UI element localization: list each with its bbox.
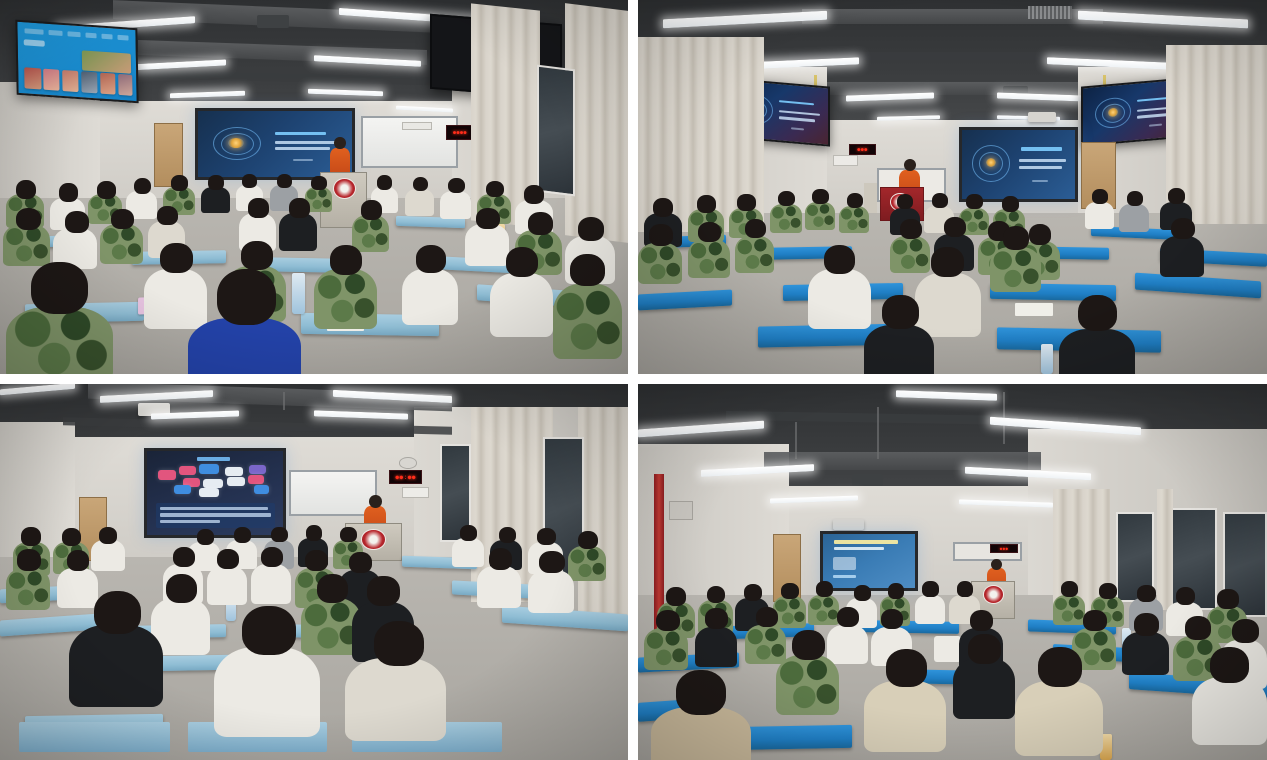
podium-emblem bbox=[361, 529, 386, 550]
wall-panel bbox=[402, 487, 429, 497]
classroom-scene-4: ●●● bbox=[638, 384, 1267, 760]
classroom-scene-1: ●●●● bbox=[0, 0, 628, 374]
classroom-scene-3: ●●:●● bbox=[0, 384, 628, 760]
tv-section-title bbox=[23, 40, 44, 48]
podium-emblem bbox=[333, 178, 356, 199]
photo-top-left[interactable]: ●●●● bbox=[0, 0, 628, 374]
tv-poster[interactable] bbox=[81, 71, 98, 93]
whiteboard bbox=[289, 470, 377, 515]
presenter-head bbox=[369, 495, 382, 508]
podium-emblem bbox=[983, 585, 1004, 604]
wall-vent bbox=[402, 122, 432, 130]
led-clock: ●●:●● bbox=[389, 470, 422, 483]
security-camera bbox=[399, 457, 417, 469]
tv-nav-item[interactable] bbox=[67, 32, 80, 38]
ceiling-speaker bbox=[257, 15, 288, 28]
backpack bbox=[934, 636, 962, 662]
tv-nav-item[interactable] bbox=[24, 29, 43, 35]
ceiling-pipe bbox=[283, 392, 285, 411]
water-bottle bbox=[1041, 344, 1054, 374]
ceiling-pipe bbox=[795, 422, 797, 460]
tv-nav-item[interactable] bbox=[48, 31, 62, 37]
tv-nav-item[interactable] bbox=[101, 34, 112, 40]
photo-bottom-right[interactable]: ●●● bbox=[638, 384, 1267, 760]
tv-search-icon[interactable] bbox=[117, 35, 129, 41]
projector bbox=[833, 519, 864, 530]
photo-top-right[interactable]: ●●● bbox=[638, 0, 1267, 374]
led-sign: ●●● bbox=[849, 144, 877, 155]
projector bbox=[1028, 112, 1056, 122]
presenter-head bbox=[334, 137, 346, 150]
notebook bbox=[1015, 303, 1053, 316]
projection-screen[interactable] bbox=[820, 531, 917, 591]
ceiling-smart-tv[interactable] bbox=[15, 20, 139, 103]
tv-poster[interactable] bbox=[62, 70, 79, 92]
photo-collage: ●●●● bbox=[0, 0, 1267, 760]
chair-back bbox=[19, 722, 170, 752]
tv-poster[interactable] bbox=[117, 74, 132, 96]
ceiling-pipe bbox=[877, 407, 879, 460]
led-sign: ●●●● bbox=[446, 125, 474, 140]
tv-nav-item[interactable] bbox=[85, 33, 97, 39]
classroom-scene-2: ●●● bbox=[638, 0, 1267, 374]
led-sign: ●●● bbox=[990, 544, 1018, 553]
presenter-body bbox=[330, 148, 350, 174]
window bbox=[537, 65, 575, 197]
wall-panel bbox=[833, 155, 858, 166]
tv-poster[interactable] bbox=[100, 72, 116, 94]
ceiling-speaker bbox=[852, 474, 883, 485]
photo-bottom-left[interactable]: ●●:●● bbox=[0, 384, 628, 760]
wall-box bbox=[669, 501, 692, 520]
tv-poster[interactable] bbox=[43, 68, 60, 90]
water-bottle bbox=[292, 273, 305, 314]
tv-poster[interactable] bbox=[24, 67, 41, 89]
podium-side bbox=[864, 183, 877, 213]
ceiling-grille bbox=[1028, 6, 1072, 19]
projection-screen[interactable] bbox=[144, 448, 285, 538]
curtain bbox=[1157, 489, 1173, 609]
tv-featured-poster[interactable] bbox=[81, 51, 130, 74]
projection-screen[interactable] bbox=[959, 127, 1079, 202]
presenter-head bbox=[991, 559, 1002, 570]
curtain bbox=[578, 407, 628, 618]
